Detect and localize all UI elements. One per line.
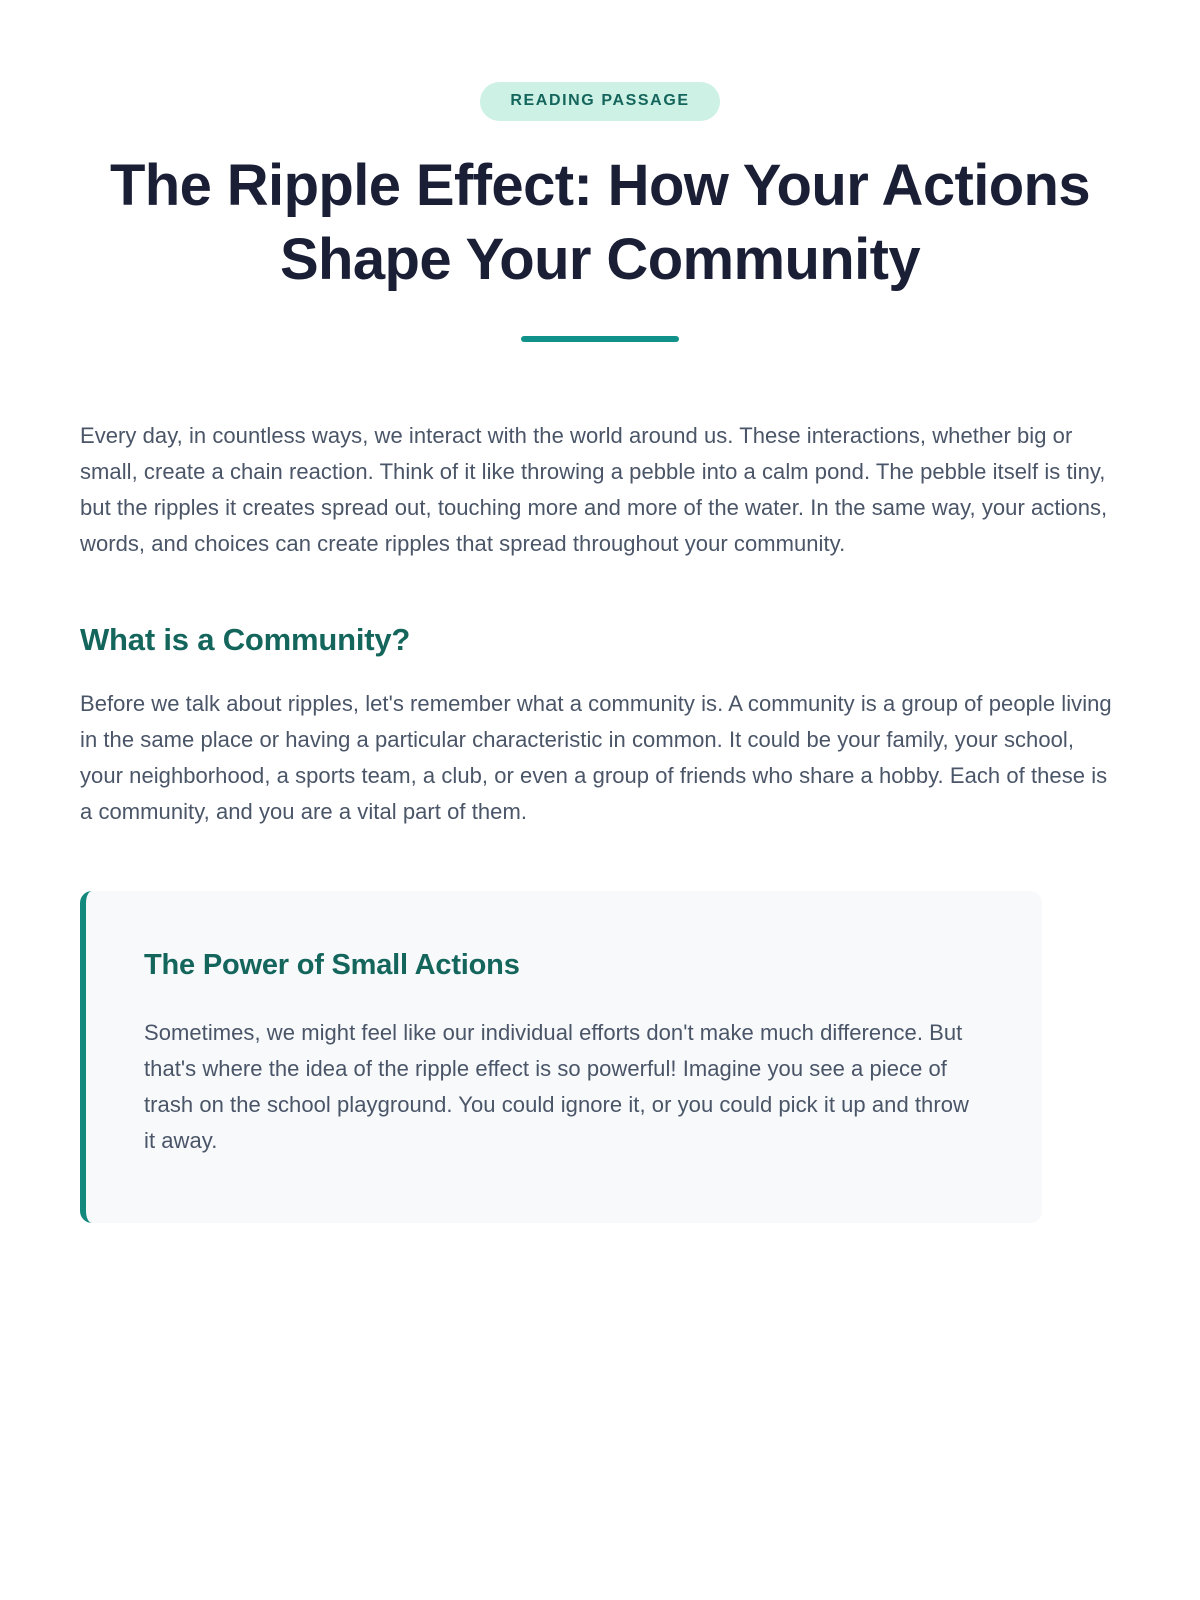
reading-passage-page: READING PASSAGE The Ripple Effect: How Y… [0,0,1200,1600]
title-divider [521,336,679,342]
section-heading-what-is-a-community: What is a Community? [80,620,1120,660]
callout-box: The Power of Small Actions Sometimes, we… [80,891,1042,1222]
passage-content: Every day, in countless ways, we interac… [0,418,1200,1222]
callout-paragraph: Sometimes, we might feel like our indivi… [144,1015,986,1158]
intro-paragraph: Every day, in countless ways, we interac… [80,418,1120,561]
reading-passage-badge: READING PASSAGE [480,82,719,121]
page-title: The Ripple Effect: How Your Actions Shap… [90,149,1110,296]
passage-header: READING PASSAGE The Ripple Effect: How Y… [0,0,1200,342]
callout-heading: The Power of Small Actions [144,947,986,985]
section-paragraph: Before we talk about ripples, let's reme… [80,686,1120,829]
